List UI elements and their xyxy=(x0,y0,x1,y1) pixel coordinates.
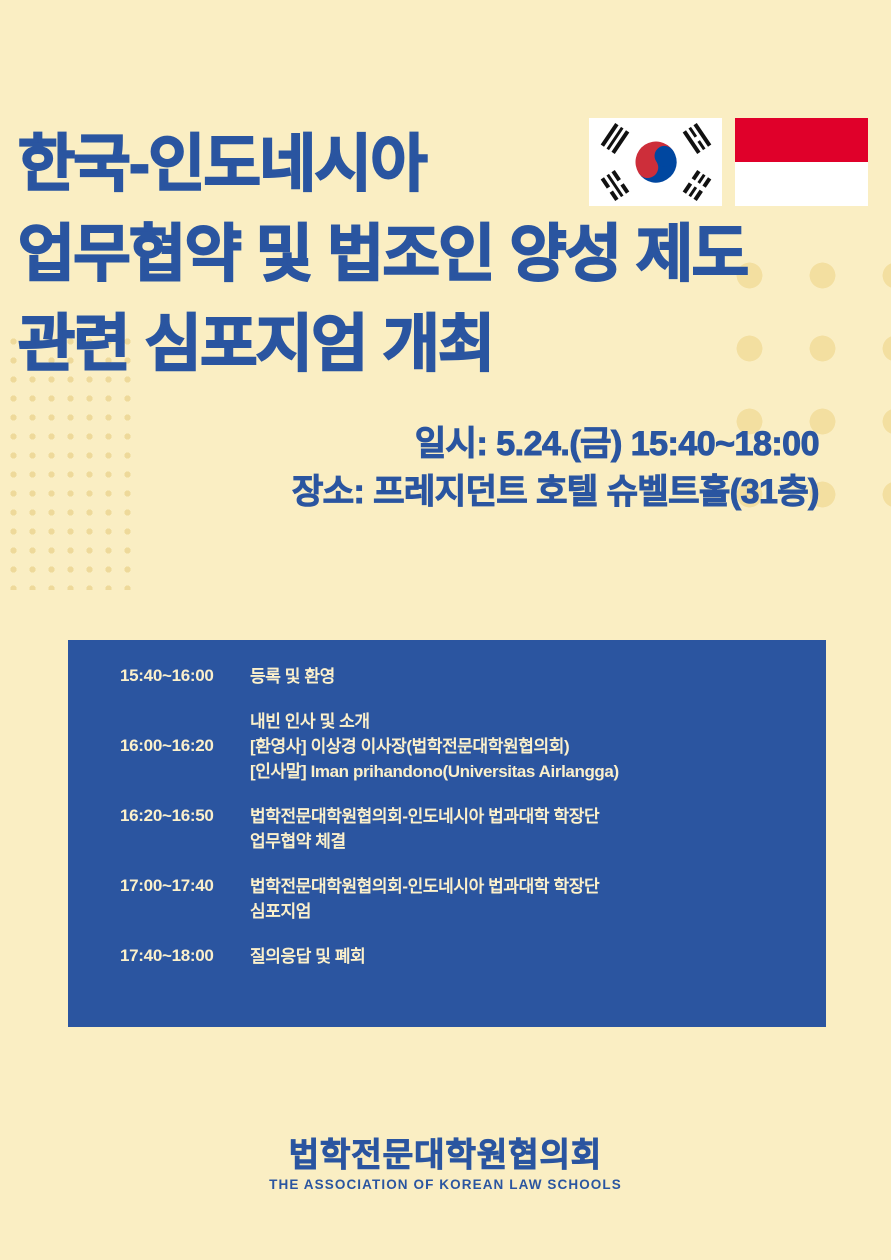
schedule-time: 17:40~18:00 xyxy=(68,944,250,968)
event-details: 일시: 5.24.(금) 15:40~18:00 장소: 프레지던트 호텔 슈벨… xyxy=(292,420,819,516)
schedule-time: 16:00~16:20 xyxy=(68,709,250,758)
schedule-row: 15:40~16:00 등록 및 환영 xyxy=(68,664,826,689)
title-line-2: 업무협약 및 법조인 양성 제도 xyxy=(18,210,888,300)
schedule-time: 17:00~17:40 xyxy=(68,874,250,898)
schedule-panel: 15:40~16:00 등록 및 환영 16:00~16:20 내빈 인사 및 … xyxy=(68,640,826,1027)
schedule-description-line: 등록 및 환영 xyxy=(250,664,826,689)
logo-korean-name: 법학전문대학원협의회 xyxy=(0,1136,891,1174)
title-line-3: 관련 심포지엄 개최 xyxy=(18,300,888,390)
schedule-description: 내빈 인사 및 소개 [환영사] 이상경 이사장(법학전문대학원협의회) [인사… xyxy=(250,709,826,784)
schedule-row: 17:00~17:40 법학전문대학원협의회-인도네시아 법과대학 학장단 심포… xyxy=(68,874,826,924)
schedule-time: 15:40~16:00 xyxy=(68,664,250,688)
schedule-row: 16:00~16:20 내빈 인사 및 소개 [환영사] 이상경 이사장(법학전… xyxy=(68,709,826,784)
poster-root: 한국-인도네시아 업무협약 및 법조인 양성 제도 관련 심포지엄 개최 일시:… xyxy=(0,0,891,1260)
event-datetime: 일시: 5.24.(금) 15:40~18:00 xyxy=(292,420,819,468)
schedule-description: 질의응답 및 폐회 xyxy=(250,944,826,969)
schedule-description-line: [환영사] 이상경 이사장(법학전문대학원협의회) xyxy=(250,734,826,759)
schedule-row: 17:40~18:00 질의응답 및 폐회 xyxy=(68,944,826,969)
schedule-description-line: 내빈 인사 및 소개 xyxy=(250,709,826,734)
schedule-time: 16:20~16:50 xyxy=(68,804,250,828)
schedule-description: 법학전문대학원협의회-인도네시아 법과대학 학장단 업무협약 체결 xyxy=(250,804,826,854)
schedule-description: 법학전문대학원협의회-인도네시아 법과대학 학장단 심포지엄 xyxy=(250,874,826,924)
schedule-row: 16:20~16:50 법학전문대학원협의회-인도네시아 법과대학 학장단 업무… xyxy=(68,804,826,854)
schedule-description-line: 심포지엄 xyxy=(250,899,826,924)
schedule-description: 등록 및 환영 xyxy=(250,664,826,689)
schedule-description-line: 업무협약 체결 xyxy=(250,829,826,854)
organization-logo: 법학전문대학원협의회 THE ASSOCIATION OF KOREAN LAW… xyxy=(0,1136,891,1194)
schedule-description-line: 법학전문대학원협의회-인도네시아 법과대학 학장단 xyxy=(250,874,826,899)
schedule-list: 15:40~16:00 등록 및 환영 16:00~16:20 내빈 인사 및 … xyxy=(68,664,826,989)
logo-english-name: THE ASSOCIATION OF KOREAN LAW SCHOOLS xyxy=(0,1176,891,1194)
title-line-1: 한국-인도네시아 xyxy=(18,120,888,210)
schedule-description-line: [인사말] Iman prihandono(Universitas Airlan… xyxy=(250,759,826,784)
event-venue: 장소: 프레지던트 호텔 슈벨트홀(31층) xyxy=(292,468,819,516)
schedule-description-line: 법학전문대학원협의회-인도네시아 법과대학 학장단 xyxy=(250,804,826,829)
schedule-description-line: 질의응답 및 폐회 xyxy=(250,944,826,969)
poster-title: 한국-인도네시아 업무협약 및 법조인 양성 제도 관련 심포지엄 개최 xyxy=(18,120,888,390)
